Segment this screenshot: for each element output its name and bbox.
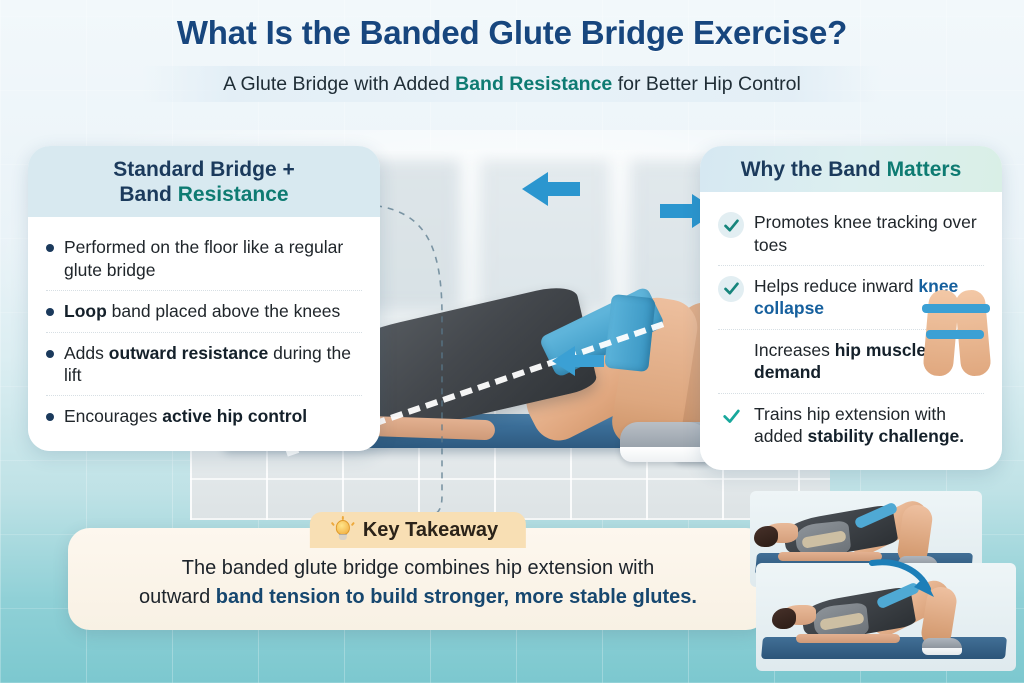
key-takeaway-label: Key Takeaway [363,519,498,542]
list-item-text: Helps reduce inward knee collapse [754,275,984,320]
list-item: Helps reduce inward knee collapse [718,266,984,330]
text-bold: active hip control [162,406,307,426]
panel-left-heading-line1: Standard Bridge + [44,157,364,182]
bullet-dot-icon [46,244,54,252]
panel-right-body: Promotes knee tracking over toes Helps r… [700,192,1002,470]
panel-standard-bridge: Standard Bridge + Band Resistance Perfor… [28,146,380,451]
text-pre: Performed on the floor like a regular gl… [64,237,343,279]
list-item: Encourages active hip control [46,396,362,436]
outward-force-arrow-left-tail [546,182,580,196]
subtitle-post: for Better Hip Control [612,73,801,95]
text-pre: Increases [754,340,835,360]
list-item: Performed on the floor like a regular gl… [46,227,362,291]
text-bold: band tension to build stronger, more sta… [216,586,697,608]
text-bold: outward resistance [109,343,269,363]
panel-why-band-matters: Why the Band Matters Promotes knee track… [700,146,1002,470]
key-takeaway-panel: Key Takeaway The banded glute bridge com… [68,528,768,630]
subtitle-highlight: Band Resistance [455,73,612,95]
mini-arm [778,552,882,561]
bullet-dot-icon [46,350,54,358]
mini-shoe [922,638,962,655]
key-takeaway-text: The banded glute bridge combines hip ext… [90,554,746,612]
check-icon [718,404,744,430]
text-pre: Promotes knee tracking over toes [754,212,977,254]
panel-left-body: Performed on the floor like a regular gl… [28,217,380,450]
outward-force-arrow-right-tail [660,204,694,218]
motion-arrow-icon [868,557,940,605]
page-title: What Is the Banded Glute Bridge Exercise… [0,14,1024,52]
text-pre: Helps reduce inward [754,276,918,296]
lightbulb-icon [332,518,354,542]
list-item-text: Increases hip muscle demand [754,339,984,384]
text-post: band placed above the knees [107,301,341,321]
list-item: Adds outward resistance during the lift [46,333,362,397]
list-item-text: Loop band placed above the knees [64,300,340,322]
key-takeaway-line2: outward band tension to build stronger, … [90,583,746,612]
mini-arm [796,634,900,643]
list-item-text: Encourages active hip control [64,405,307,427]
text-pre: outward [139,586,216,608]
panel-left-heading-resistance: Resistance [178,183,289,206]
list-item: Promotes knee tracking over toes [718,202,984,266]
bullet-dot-icon [46,413,54,421]
panel-right-heading-matters: Matters [887,158,962,181]
list-item: Trains hip extension with added stabilit… [718,394,984,457]
check-circle-icon [718,276,744,302]
inward-collapse-arrow-tail [574,355,604,367]
list-item-text: Adds outward resistance during the lift [64,342,362,387]
text-pre: Encourages [64,406,162,426]
list-item-text: Performed on the floor like a regular gl… [64,236,362,281]
check-hidden-icon [718,340,744,366]
mini-hair [772,608,796,629]
page-subtitle: A Glute Bridge with Added Band Resistanc… [223,73,801,96]
inward-collapse-arrow-icon [552,346,575,376]
subtitle-band: A Glute Bridge with Added Band Resistanc… [142,66,882,102]
list-item: Loop band placed above the knees [46,291,362,332]
panel-right-heading-pre: Why the Band [741,158,887,181]
list-item: Increases hip muscle demand [718,330,984,394]
key-takeaway-tab: Key Takeaway [310,512,526,548]
panel-left-heading-line2: Band Resistance [44,182,364,207]
subtitle-pre: A Glute Bridge with Added [223,73,455,95]
header: What Is the Banded Glute Bridge Exercise… [0,14,1024,102]
panel-right-heading: Why the Band Matters [700,146,1002,192]
text-bold: Loop [64,301,107,321]
check-circle-icon [718,212,744,238]
key-takeaway-line1: The banded glute bridge combines hip ext… [90,554,746,583]
panel-left-heading: Standard Bridge + Band Resistance [28,146,380,217]
panel-left-heading-band: Band [119,183,177,206]
text-bold: stability challenge. [808,426,965,446]
list-item-text: Promotes knee tracking over toes [754,211,984,256]
near-shoe [620,422,712,462]
outward-force-arrow-left-icon [522,172,548,206]
bullet-dot-icon [46,308,54,316]
mini-hair [754,526,778,547]
text-pre: Adds [64,343,109,363]
list-item-text: Trains hip extension with added stabilit… [754,403,984,448]
